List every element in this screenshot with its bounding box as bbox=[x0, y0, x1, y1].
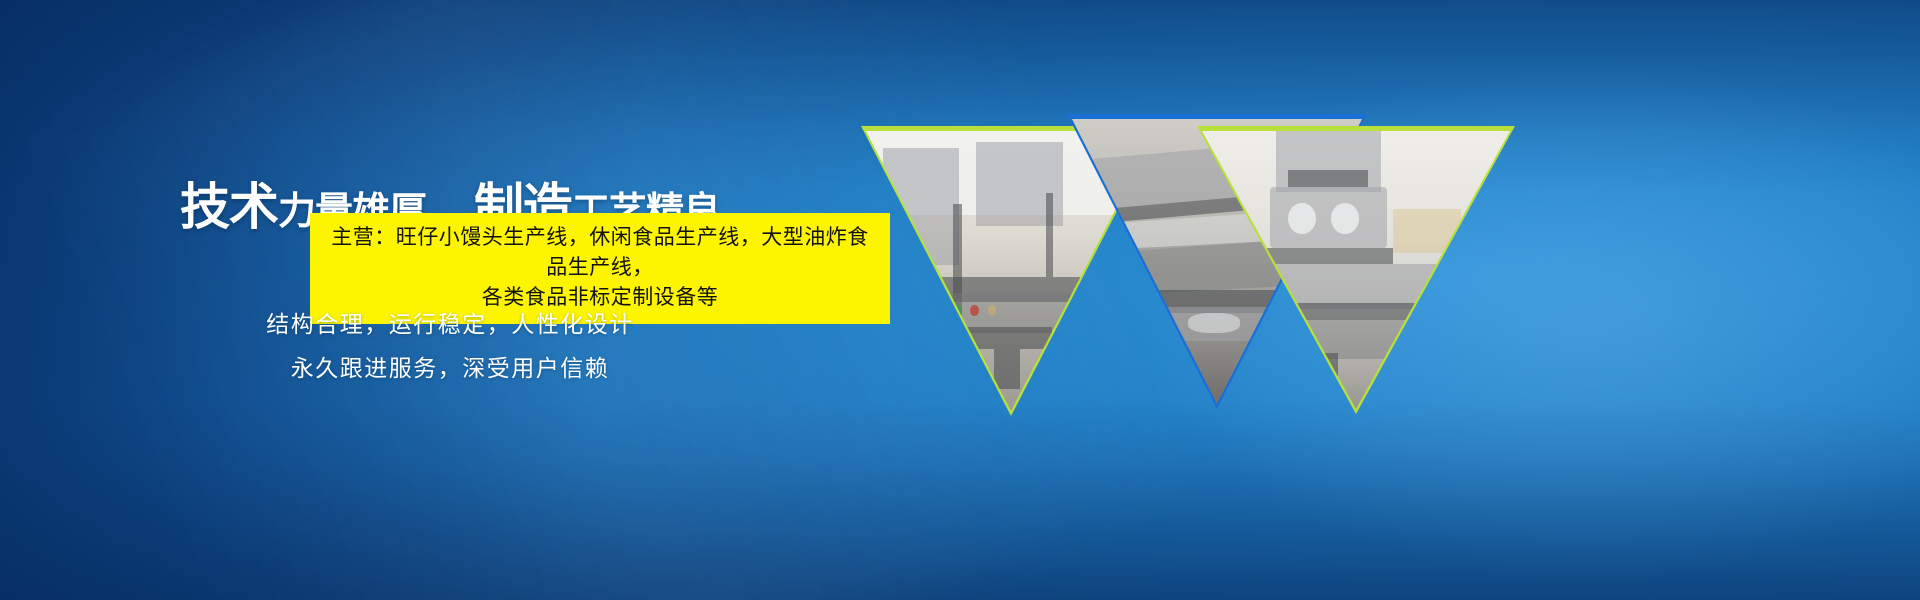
photo-triangle-forming-machine[interactable] bbox=[1197, 126, 1515, 414]
headline-segment-1: 技术 bbox=[180, 178, 278, 236]
subline-1: 结构合理，运行稳定，人性化设计 bbox=[0, 305, 900, 339]
subline-2: 永久跟进服务，深受用户信赖 bbox=[0, 349, 900, 383]
photo-triangle-cluster bbox=[845, 108, 1525, 428]
promo-banner: 技术力量雄厚，制造工艺精良 主营：旺仔小馒头生产线，休闲食品生产线，大型油炸食品… bbox=[0, 0, 1920, 600]
photo-forming-machine bbox=[1202, 131, 1510, 409]
triangle-photo-clip-3 bbox=[1202, 131, 1510, 409]
highlight-line-1: 主营：旺仔小馒头生产线，休闲食品生产线，大型油炸食品生产线， bbox=[324, 223, 876, 283]
